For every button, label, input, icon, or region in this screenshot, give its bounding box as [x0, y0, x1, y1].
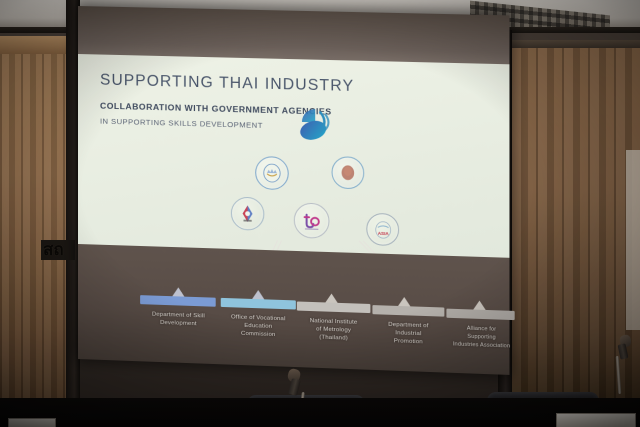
skill-development-diamond-icon: [237, 203, 258, 225]
conference-room-photo: สถ SUPPORTING THAI INDUSTRY COLLABORATIO…: [0, 0, 640, 427]
agency-label-4-line-3: Promotion: [368, 336, 448, 347]
slide-subtitle-primary: COLLABORATION WITH GOVERNMENT AGENCIES: [100, 101, 332, 117]
logo-circle-asia-association: ASIA: [366, 213, 399, 246]
logo-circle-skill-development: [231, 197, 264, 231]
agency-label-1: Department of Skill Development: [136, 310, 221, 329]
projection-screen: SUPPORTING THAI INDUSTRY COLLABORATION W…: [78, 6, 509, 374]
agency-label-2-line-3: Commission: [217, 329, 300, 340]
agency-label-2: Office of Vocational Education Commissio…: [217, 313, 300, 340]
agency-label-1-line-2: Development: [136, 318, 221, 329]
svg-text:ASIA: ASIA: [377, 230, 389, 235]
curtain-left: [0, 36, 74, 427]
agency-label-4: Department of Industrial Promotion: [368, 320, 448, 347]
agency-label-5-line-3: Industries Association: [441, 340, 522, 351]
room-sign: สถ: [41, 240, 75, 260]
agency-label-5: Alliance for Supporting Industries Assoc…: [441, 324, 522, 351]
nameplate-left: [8, 418, 56, 427]
slide-title: SUPPORTING THAI INDUSTRY: [100, 72, 354, 96]
logo-circle-metrology: [294, 202, 330, 238]
room-sign-text: สถ: [41, 242, 64, 259]
industrial-promotion-seal-icon: [338, 162, 358, 183]
logo-circle-vocational-education: [255, 156, 289, 190]
vocational-education-emblem-icon: [261, 162, 282, 184]
asia-association-seal-icon: ASIA: [372, 218, 394, 240]
globe-icon: [298, 106, 337, 143]
wall-light-strip: [626, 150, 640, 330]
table-front-edge: [0, 398, 640, 427]
screen-bottom-band: Department of Skill Development Office o…: [78, 244, 509, 375]
nameplate-right: [556, 413, 636, 427]
metrology-to-lettermark-icon: [300, 209, 323, 233]
agency-label-3-line-3: (Thailand): [293, 333, 375, 344]
logo-circle-industrial-promotion: [332, 156, 365, 189]
slide-subtitle-secondary: IN SUPPORTING SKILLS DEVELOPMENT: [100, 117, 263, 130]
agency-label-3: National Institute of Metrology (Thailan…: [293, 316, 375, 343]
